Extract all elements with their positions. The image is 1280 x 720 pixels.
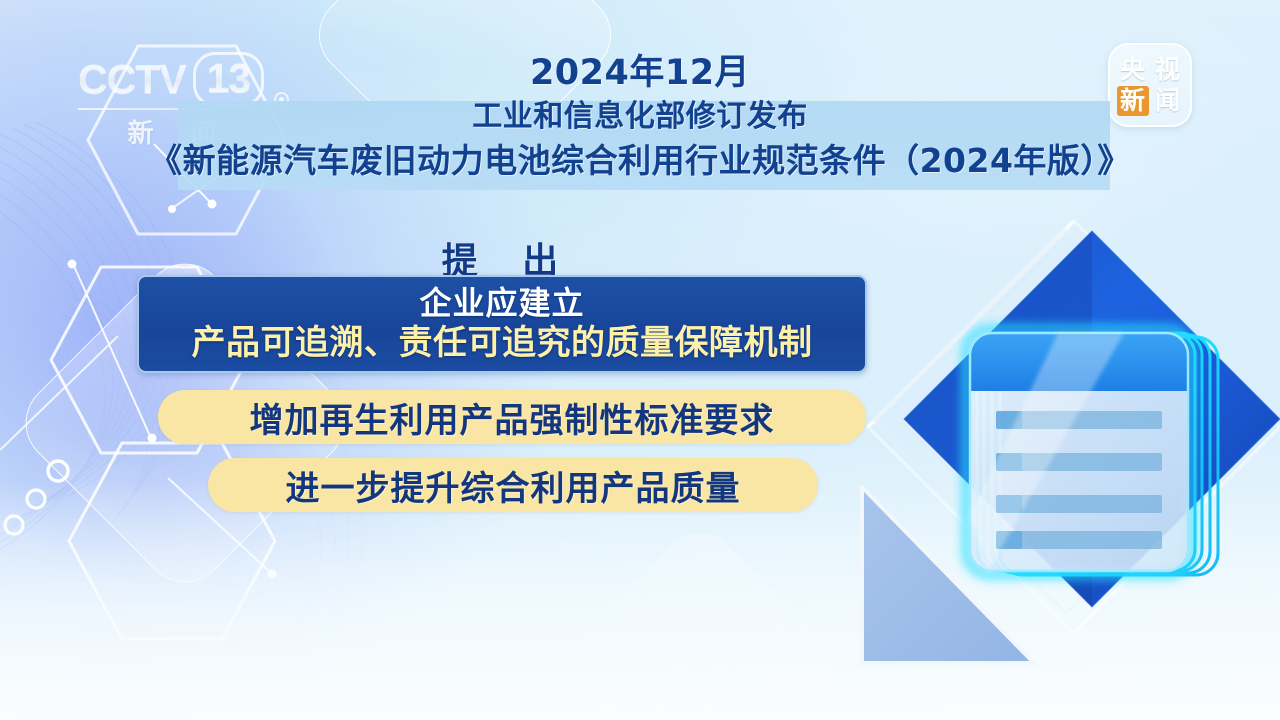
statement-line-2: 产品可追溯、责任可追究的质量保障机制 [192,322,813,364]
header-date: 2024年12月 [0,52,1280,94]
statement-line-1: 企业应建立 [419,284,584,322]
point-pill-2-label: 进一步提升综合利用产品质量 [286,461,741,510]
header-title-block: 2024年12月 工业和信息化部修订发布 《新能源汽车废旧动力电池综合利用行业规… [0,52,1280,184]
point-pill-2: 进一步提升综合利用产品质量 [208,458,818,512]
connector-line-cross [0,330,124,460]
point-pill-1: 增加再生利用产品强制性标准要求 [158,390,866,444]
statement-box: 企业应建立 产品可追溯、责任可追究的质量保障机制 [137,275,867,373]
point-pill-1-label: 增加再生利用产品强制性标准要求 [250,393,775,442]
header-document-title: 《新能源汽车废旧动力电池综合利用行业规范条件（2024年版）》 [0,138,1280,184]
header-issuer: 工业和信息化部修订发布 [0,96,1280,138]
document-stack-diamond-graphic [838,215,1280,695]
broadcast-frame: CCTV 13 新 闻 央 视 新 闻 2024年12月 工业和信息化部修订发布… [0,0,1280,720]
